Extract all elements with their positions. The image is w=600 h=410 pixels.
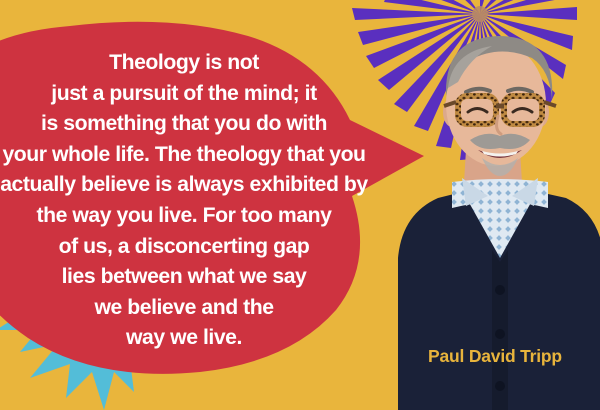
poster-canvas: Theology is not just a pursuit of the mi… [0,0,600,410]
speaker-name: Paul David Tripp [428,346,562,367]
quote-text: Theology is not just a pursuit of the mi… [0,48,368,354]
